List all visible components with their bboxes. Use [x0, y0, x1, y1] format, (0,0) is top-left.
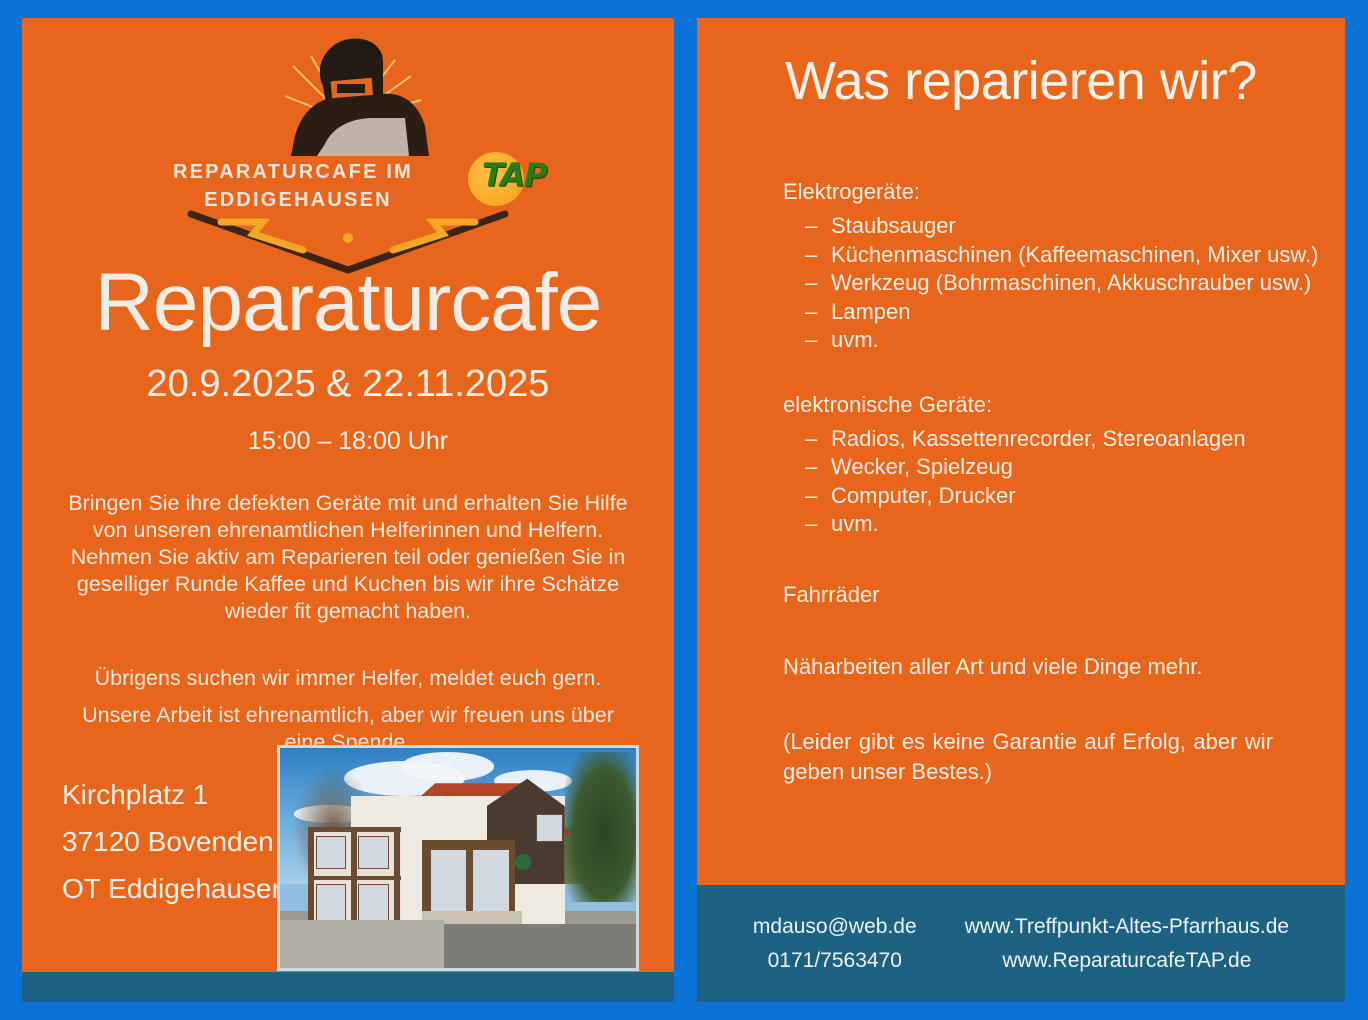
footer-contact-column: mdauso@web.de 0171/7563470 [753, 910, 917, 978]
footer-phone[interactable]: 0171/7563470 [753, 944, 917, 978]
left-poster-panel: REPARATURCAFE IM EDDIGEHAUSEN TAP Repara… [22, 18, 674, 1002]
list-item-label: uvm. [831, 326, 879, 355]
list-item: – Computer, Drucker [783, 482, 1345, 511]
helpers-paragraph: Übrigens suchen wir immer Helfer, meldet… [22, 665, 674, 692]
address-block: Kirchplatz 1 37120 Bovenden OT Eddigehau… [62, 771, 287, 912]
photo-beam [308, 827, 314, 928]
photo-beam [351, 827, 357, 928]
photo-window [316, 836, 346, 869]
list-item-label: Staubsauger [831, 212, 956, 241]
list-item-label: Wecker, Spielzeug [831, 453, 1013, 482]
right-panel-title: Was reparieren wir? [697, 52, 1345, 110]
list-item: – uvm. [783, 326, 1345, 355]
right-poster-panel: Was reparieren wir? Elektrogeräte: – Sta… [697, 18, 1345, 1002]
left-poster-body: REPARATURCAFE IM EDDIGEHAUSEN TAP Repara… [22, 18, 674, 972]
dash-bullet-icon: – [805, 425, 817, 454]
dash-bullet-icon: – [805, 453, 817, 482]
list-item: – Lampen [783, 298, 1345, 327]
list-elektronische-geraete: – Radios, Kassettenrecorder, Stereoanlag… [783, 425, 1345, 539]
badge-chevron-icon [183, 208, 513, 274]
photo-road [444, 924, 636, 968]
address-photo-row: Kirchplatz 1 37120 Bovenden OT Eddigehau… [22, 727, 674, 972]
dash-bullet-icon: – [805, 212, 817, 241]
logo-block: REPARATURCAFE IM EDDIGEHAUSEN TAP [22, 18, 674, 258]
list-item: – Werkzeug (Bohrmaschinen, Akkuschrauber… [783, 269, 1345, 298]
section-heading: Elektrogeräte: [783, 178, 1345, 206]
list-item: – uvm. [783, 510, 1345, 539]
dash-bullet-icon: – [805, 298, 817, 327]
photo-window [472, 849, 510, 913]
list-item-label: uvm. [831, 510, 879, 539]
list-item-label: Küchenmaschinen (Kaffeemaschinen, Mixer … [831, 241, 1319, 270]
dash-bullet-icon: – [805, 482, 817, 511]
section-elektrogeraete: Elektrogeräte: – Staubsauger – Küchenmas… [697, 178, 1345, 355]
footer-website-2[interactable]: www.ReparaturcafeTAP.de [965, 944, 1289, 978]
dash-bullet-icon: – [805, 241, 817, 270]
photo-tree-right [565, 752, 636, 902]
list-item-label: Lampen [831, 298, 911, 327]
address-line-3: OT Eddigehausen [62, 865, 287, 912]
photo-window [536, 814, 563, 842]
dash-bullet-icon: – [805, 269, 817, 298]
guarantee-note: (Leider gibt es keine Garantie auf Erfol… [697, 727, 1345, 787]
venue-photo [277, 745, 639, 971]
photo-window [358, 836, 388, 869]
footer-website-1[interactable]: www.Treffpunkt-Altes-Pfarrhaus.de [965, 910, 1289, 944]
photo-sign-icon [515, 854, 531, 870]
list-item: – Wecker, Spielzeug [783, 453, 1345, 482]
list-item-label: Radios, Kassettenrecorder, Stereoanlagen [831, 425, 1246, 454]
left-footer-bar [22, 972, 674, 1002]
address-line-1: Kirchplatz 1 [62, 771, 287, 818]
list-elektrogeraete: – Staubsauger – Küchenmaschinen (Kaffeem… [783, 212, 1345, 355]
dash-bullet-icon: – [805, 326, 817, 355]
logo-line-1: REPARATURCAFE IM [22, 159, 674, 185]
list-item: – Küchenmaschinen (Kaffeemaschinen, Mixe… [783, 241, 1345, 270]
event-hours: 15:00 – 18:00 Uhr [22, 426, 674, 456]
list-item-label: Werkzeug (Bohrmaschinen, Akkuschrauber u… [831, 269, 1311, 298]
dash-bullet-icon: – [805, 510, 817, 539]
photo-window [358, 884, 388, 921]
description-paragraph: Bringen Sie ihre defekten Geräte mit und… [22, 490, 674, 625]
section-fahrraeder: Fahrräder [697, 581, 1345, 609]
section-elektronische-geraete: elektronische Geräte: – Radios, Kassette… [697, 391, 1345, 539]
welder-illustration-icon [233, 26, 463, 156]
list-item: – Radios, Kassettenrecorder, Stereoanlag… [783, 425, 1345, 454]
photo-cobblestone [280, 920, 444, 968]
list-item-label: Computer, Drucker [831, 482, 1016, 511]
photo-window [430, 849, 468, 913]
tap-wordmark: TAP [482, 156, 547, 194]
photo-cloud [401, 752, 494, 781]
right-poster-body: Was reparieren wir? Elektrogeräte: – Sta… [697, 18, 1345, 885]
photo-beam [394, 827, 400, 928]
section-naeharbeiten: Näharbeiten aller Art und viele Dinge me… [697, 653, 1345, 681]
footer-email[interactable]: mdauso@web.de [753, 910, 917, 944]
photo-window [316, 884, 346, 921]
list-item: – Staubsauger [783, 212, 1345, 241]
footer-links-column: www.Treffpunkt-Altes-Pfarrhaus.de www.Re… [965, 910, 1289, 978]
tap-badge: TAP [468, 148, 542, 208]
section-heading: elektronische Geräte: [783, 391, 1345, 419]
address-line-2: 37120 Bovenden [62, 818, 287, 865]
right-footer-bar: mdauso@web.de 0171/7563470 www.Treffpunk… [697, 885, 1345, 1002]
event-dates: 20.9.2025 & 22.11.2025 [22, 362, 674, 406]
